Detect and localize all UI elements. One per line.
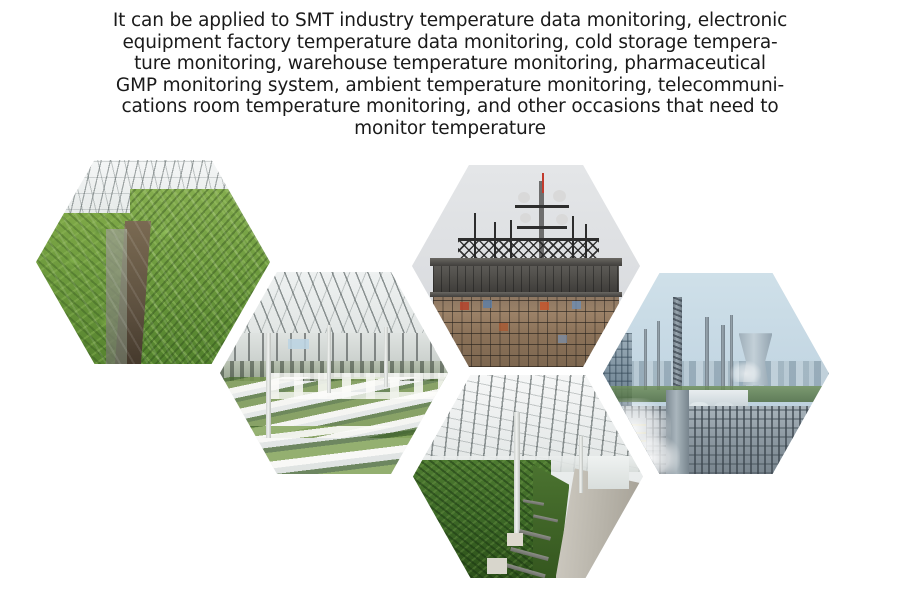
hex-image-nursery-benches[interactable] xyxy=(220,272,448,474)
hex-image-greenhouse-walkway[interactable] xyxy=(413,375,643,578)
hex-image-industrial-plant[interactable] xyxy=(603,273,829,474)
nursery-benches-photo xyxy=(220,272,448,474)
industrial-plant-photo xyxy=(603,273,829,474)
hex-image-greenhouse-rows[interactable] xyxy=(36,160,270,364)
hex-image-telecom-building[interactable] xyxy=(412,165,640,367)
greenhouse-crop-rows-photo xyxy=(36,160,270,364)
greenhouse-walkway-photo xyxy=(413,375,643,578)
telecom-building-photo xyxy=(412,165,640,367)
hexagon-image-gallery xyxy=(0,0,900,592)
